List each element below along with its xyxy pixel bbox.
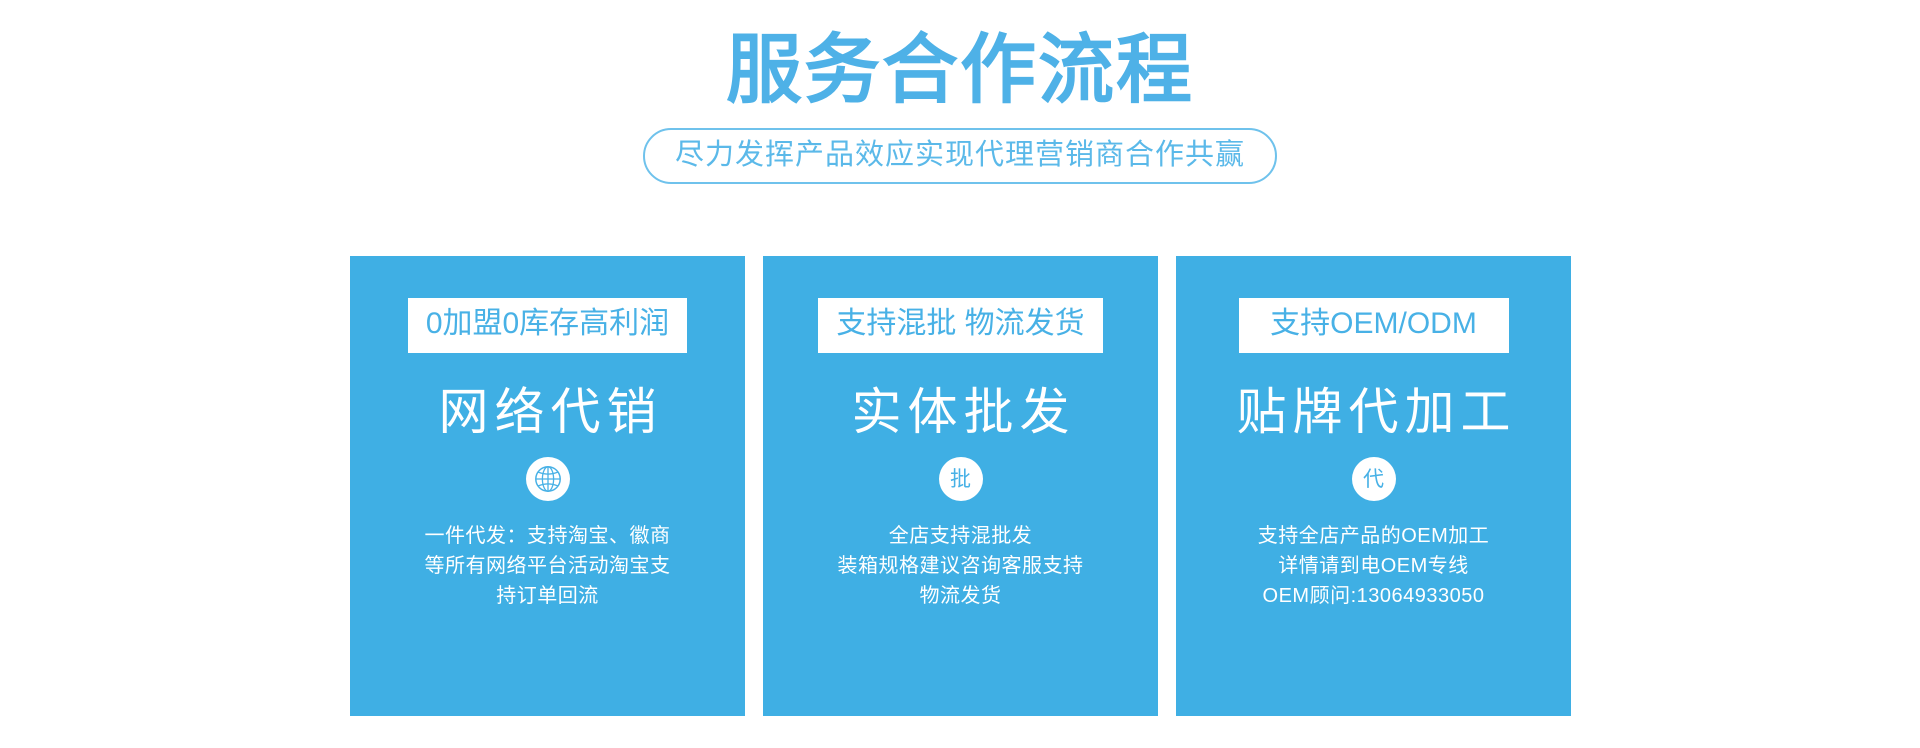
service-cards-row: 0加盟0库存高利润 网络代销 一件代发：支持淘宝、徽商 等所有网络平台活动淘宝支… <box>350 256 1571 716</box>
service-card-network-distribution[interactable]: 0加盟0库存高利润 网络代销 一件代发：支持淘宝、徽商 等所有网络平台活动淘宝支… <box>350 256 745 716</box>
service-cooperation-banner: 服务合作流程 尽力发挥产品效应实现代理营销商合作共赢 0加盟0库存高利润 网络代… <box>0 0 1920 748</box>
subtitle-container: 尽力发挥产品效应实现代理营销商合作共赢 <box>0 128 1920 184</box>
wholesale-pi-icon-glyph: 批 <box>950 469 971 490</box>
card-description-line: 装箱规格建议咨询客服支持 <box>791 551 1131 581</box>
card-description-line: 一件代发：支持淘宝、徽商 <box>378 521 718 551</box>
banner-header: 服务合作流程 尽力发挥产品效应实现代理营销商合作共赢 <box>0 0 1920 184</box>
card-description-line: 全店支持混批发 <box>791 521 1131 551</box>
card-description-line: 支持全店产品的OEM加工 <box>1204 521 1544 551</box>
card-badge: 支持OEM/ODM <box>1239 298 1509 353</box>
wholesale-pi-icon: 批 <box>939 457 983 501</box>
card-description-line: OEM顾问:13064933050 <box>1204 581 1544 611</box>
subtitle-pill: 尽力发挥产品效应实现代理营销商合作共赢 <box>643 128 1277 184</box>
card-description: 一件代发：支持淘宝、徽商 等所有网络平台活动淘宝支 持订单回流 <box>378 521 718 611</box>
card-badge: 0加盟0库存高利润 <box>408 298 687 353</box>
service-card-oem-processing[interactable]: 支持OEM/ODM 贴牌代加工 代 支持全店产品的OEM加工 详情请到电OEM专… <box>1176 256 1571 716</box>
card-description-line: 详情请到电OEM专线 <box>1204 551 1544 581</box>
card-description-line: 等所有网络平台活动淘宝支 <box>378 551 718 581</box>
service-card-physical-wholesale[interactable]: 支持混批 物流发货 实体批发 批 全店支持混批发 装箱规格建议咨询客服支持 物流… <box>763 256 1158 716</box>
card-title: 贴牌代加工 <box>1231 383 1517 441</box>
card-title: 网络代销 <box>433 383 663 441</box>
page-title: 服务合作流程 <box>0 28 1920 114</box>
oem-dai-icon-glyph: 代 <box>1363 469 1384 490</box>
card-title: 实体批发 <box>846 383 1076 441</box>
card-description: 支持全店产品的OEM加工 详情请到电OEM专线 OEM顾问:1306493305… <box>1204 521 1544 611</box>
card-badge: 支持混批 物流发货 <box>818 298 1102 353</box>
oem-dai-icon: 代 <box>1352 457 1396 501</box>
globe-icon <box>526 457 570 501</box>
card-description-line: 持订单回流 <box>378 581 718 611</box>
card-description-line: 物流发货 <box>791 581 1131 611</box>
card-description: 全店支持混批发 装箱规格建议咨询客服支持 物流发货 <box>791 521 1131 611</box>
